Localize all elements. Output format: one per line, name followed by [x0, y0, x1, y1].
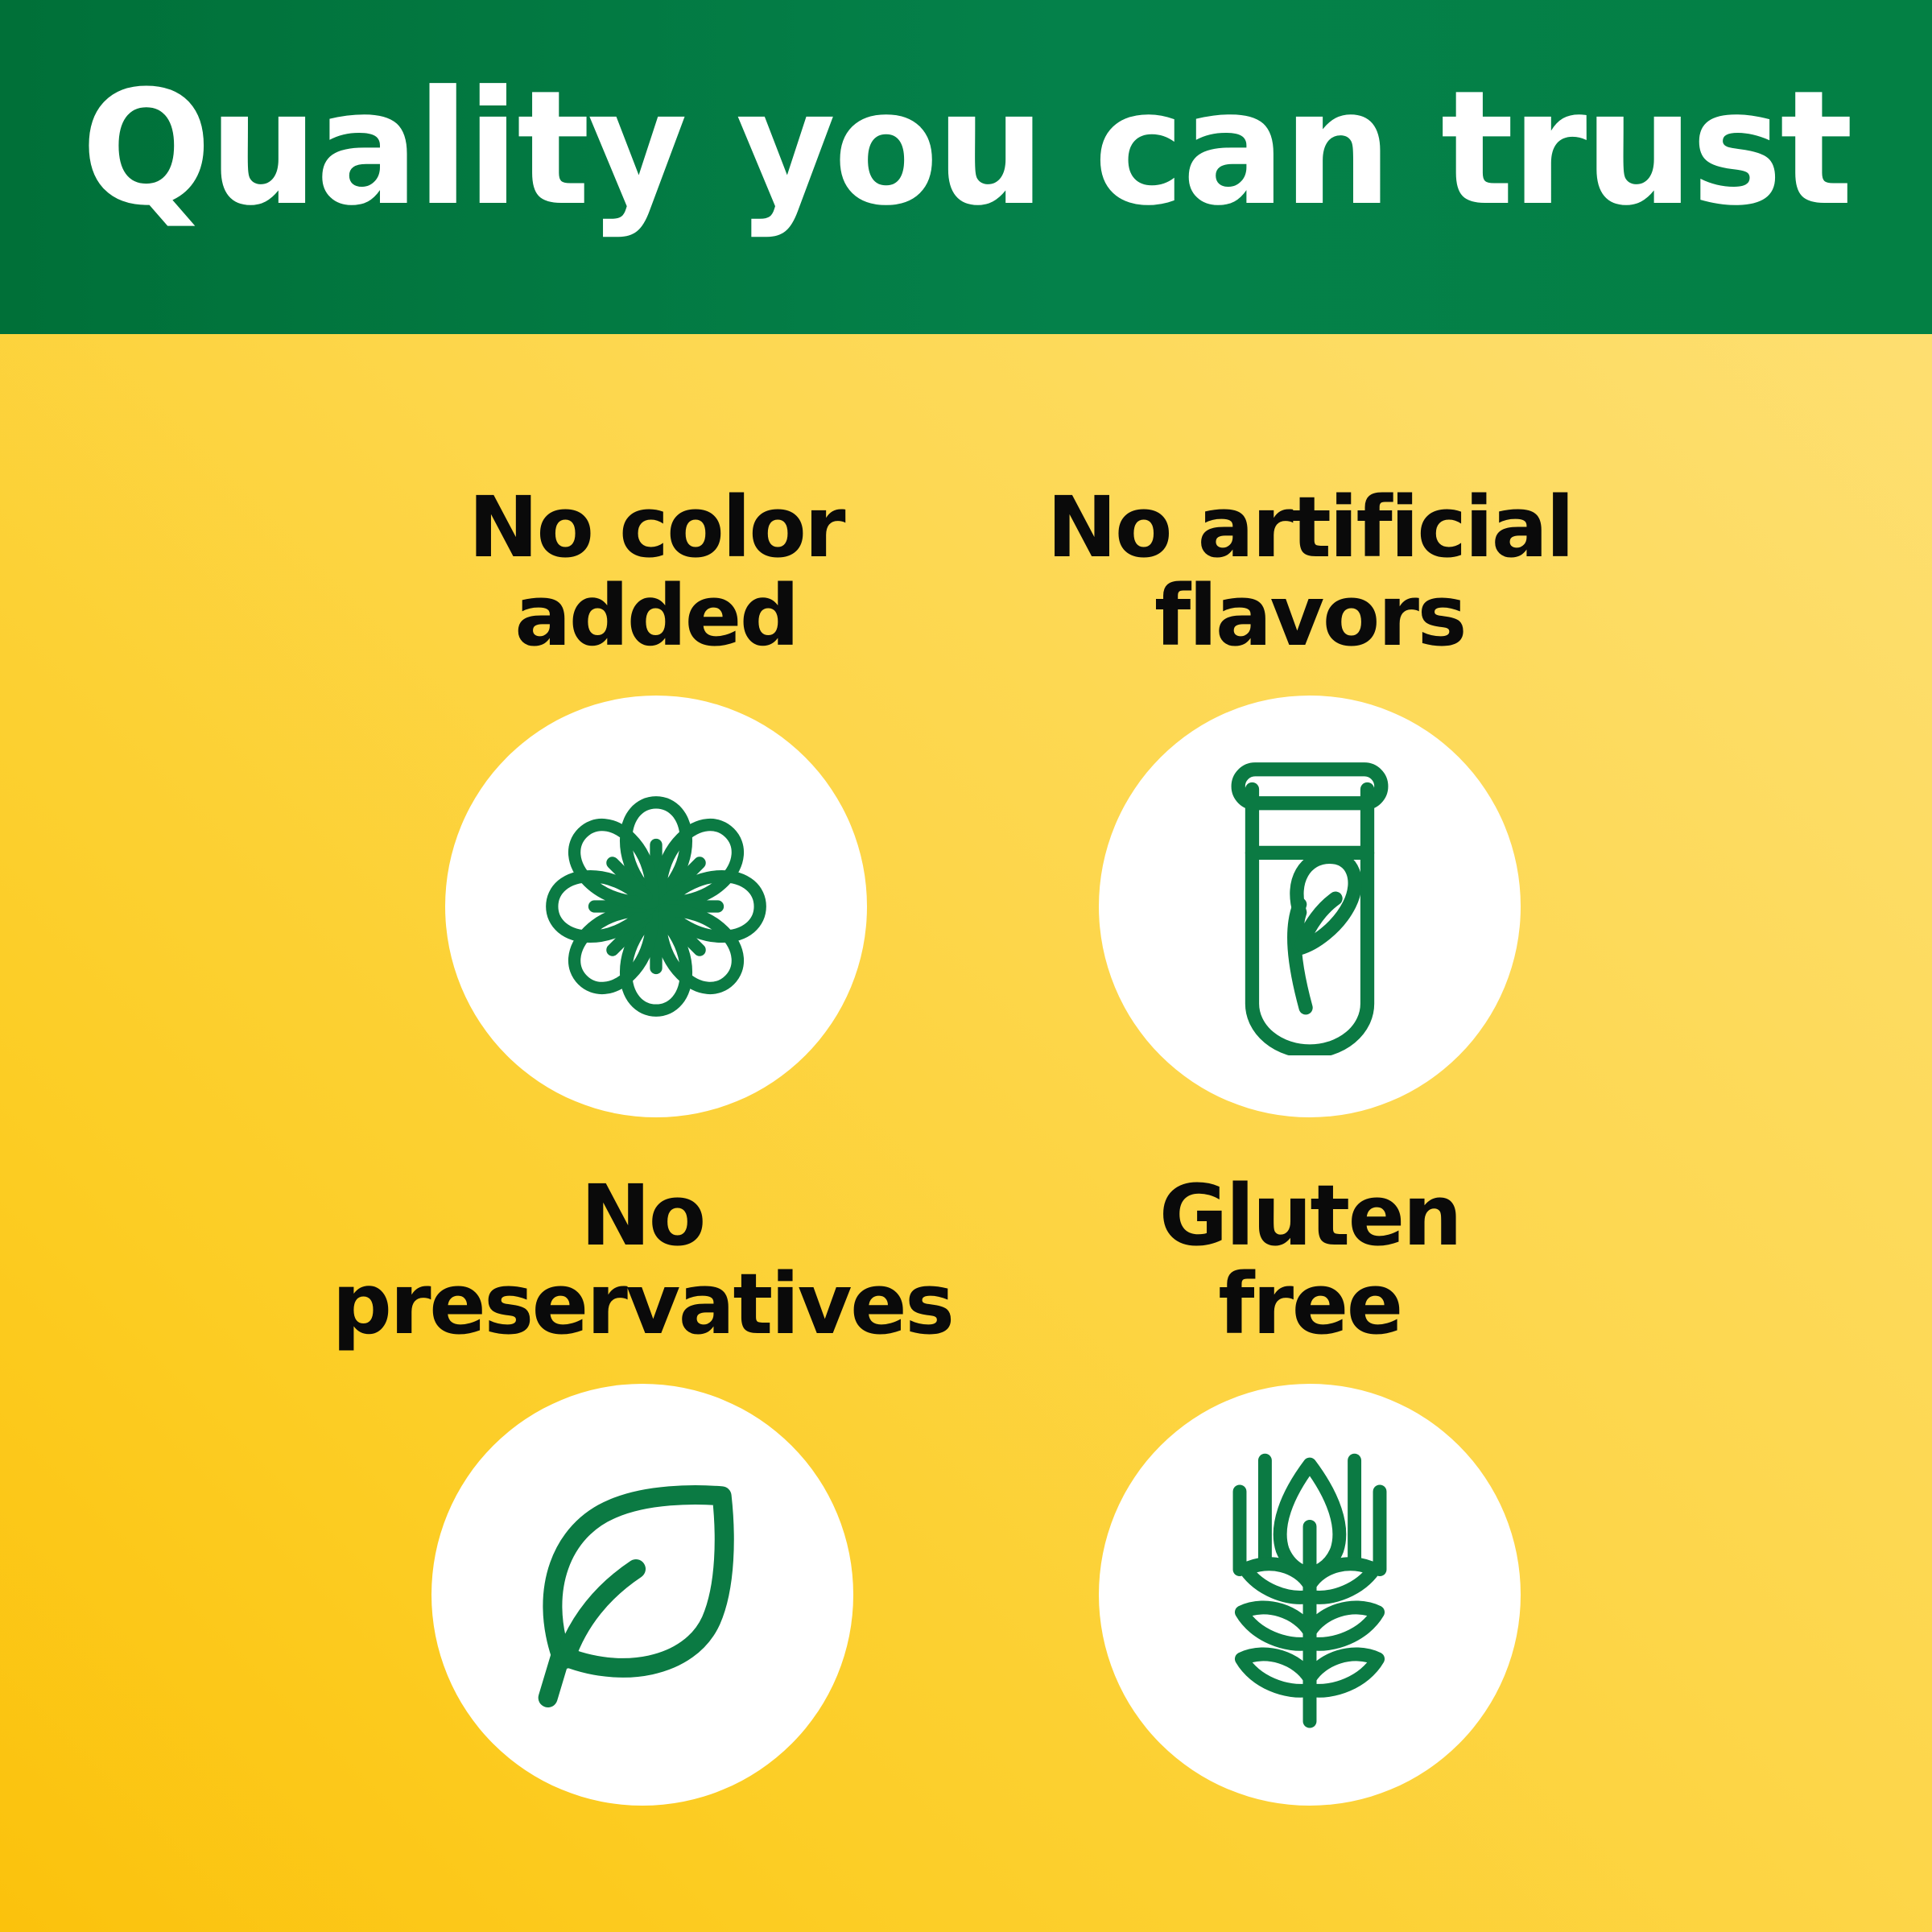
flower-petals-icon	[519, 770, 793, 1043]
test-tube-sprout-icon	[1189, 758, 1430, 1055]
feature-grid: No color added	[0, 334, 1932, 1932]
feature-label-no-artificial-flavors: No artificial flavors	[1046, 483, 1572, 660]
icon-disc-gluten-free	[1099, 1384, 1521, 1806]
feature-no-color-added: No color added	[310, 483, 1002, 1117]
quality-badge-poster: Quality you can trust No color added	[0, 0, 1932, 1932]
feature-label-gluten-free: Gluten free	[1159, 1171, 1460, 1348]
leaf-icon	[514, 1466, 771, 1724]
feature-label-no-color-added: No color added	[469, 483, 844, 660]
wheat-stalk-icon	[1193, 1446, 1426, 1744]
page-title: Quality you can trust	[81, 68, 1851, 232]
feature-gluten-free: Gluten free	[964, 1171, 1656, 1806]
icon-disc-no-artificial-flavors	[1099, 696, 1521, 1117]
feature-no-artificial-flavors: No artificial flavors	[964, 483, 1656, 1117]
icon-disc-no-preservatives	[431, 1384, 853, 1806]
feature-no-preservatives: No preservatives	[296, 1171, 989, 1806]
header-band: Quality you can trust	[0, 0, 1932, 334]
feature-label-no-preservatives: No preservatives	[332, 1171, 952, 1348]
icon-disc-no-color-added	[445, 696, 867, 1117]
